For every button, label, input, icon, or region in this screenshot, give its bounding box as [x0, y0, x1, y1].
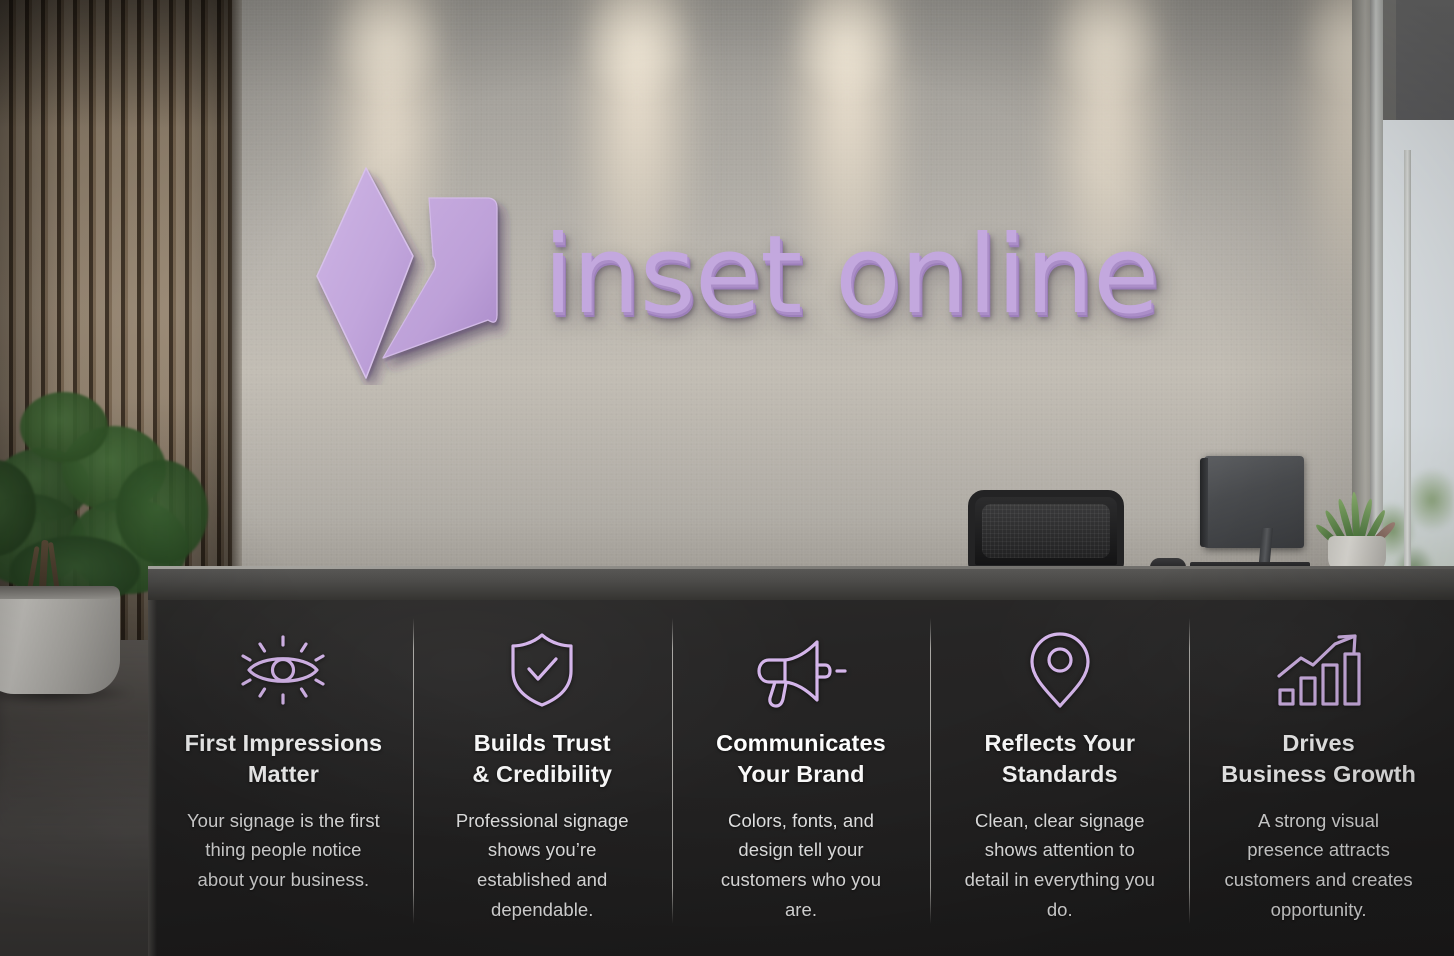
feature-card-first-impressions[interactable]: First ImpressionsMatter Your signage is …: [154, 600, 413, 895]
succulent-plant: [1316, 484, 1398, 574]
feature-card-builds-trust[interactable]: Builds Trust& Credibility Professional s…: [413, 600, 672, 925]
feature-description: Colors, fonts, and design tell your cust…: [703, 806, 899, 926]
feature-title: Builds Trust& Credibility: [472, 728, 612, 791]
planter: [0, 586, 120, 694]
feature-card-reflects-standards[interactable]: Reflects YourStandards Clean, clear sign…: [930, 600, 1189, 925]
downlight-glow-3: [787, 0, 907, 104]
feature-title: DrivesBusiness Growth: [1221, 728, 1416, 791]
feature-card-communicates-brand[interactable]: CommunicatesYour Brand Colors, fonts, an…: [672, 600, 931, 925]
megaphone-icon: [755, 630, 847, 710]
chair-mesh: [982, 504, 1110, 558]
feature-description: Professional signage shows you’re establ…: [444, 806, 640, 926]
counter-top-surface: [148, 566, 1454, 602]
feature-description: Clean, clear signage shows attention to …: [962, 806, 1158, 926]
counter-top-highlight: [148, 566, 1454, 569]
downlight-glow-1: [327, 0, 447, 104]
feature-description: A strong visual presence attracts custom…: [1221, 806, 1417, 926]
eye-icon: [237, 630, 329, 710]
feature-cards: First ImpressionsMatter Your signage is …: [148, 600, 1454, 956]
feature-title: First ImpressionsMatter: [185, 728, 383, 791]
growth-chart-icon: [1273, 630, 1365, 710]
wall-signage: inset online: [305, 160, 1225, 390]
monitor-panel: [1204, 456, 1304, 548]
reception-counter: First ImpressionsMatter Your signage is …: [148, 566, 1454, 956]
monitor-bezel-edge: [1200, 458, 1208, 547]
feature-card-drives-growth[interactable]: DrivesBusiness Growth A strong visual pr…: [1189, 600, 1448, 925]
reception-scene: inset online: [0, 0, 1454, 956]
chair-backrest: [968, 490, 1124, 572]
feature-title: CommunicatesYour Brand: [716, 728, 886, 791]
downlight-glow-4: [1047, 0, 1167, 104]
wordmark-text: inset online: [543, 222, 1158, 330]
location-pin-icon: [1014, 630, 1106, 710]
inset-online-logo-mark: [305, 160, 515, 385]
downlight-glow-2: [577, 0, 697, 104]
shield-check-icon: [496, 630, 588, 710]
planter-rim: [0, 586, 120, 599]
office-chair: [968, 490, 1124, 572]
feature-description: Your signage is the first thing people n…: [185, 806, 381, 896]
feature-title: Reflects YourStandards: [984, 728, 1135, 791]
desktop-monitor: [1198, 456, 1310, 574]
